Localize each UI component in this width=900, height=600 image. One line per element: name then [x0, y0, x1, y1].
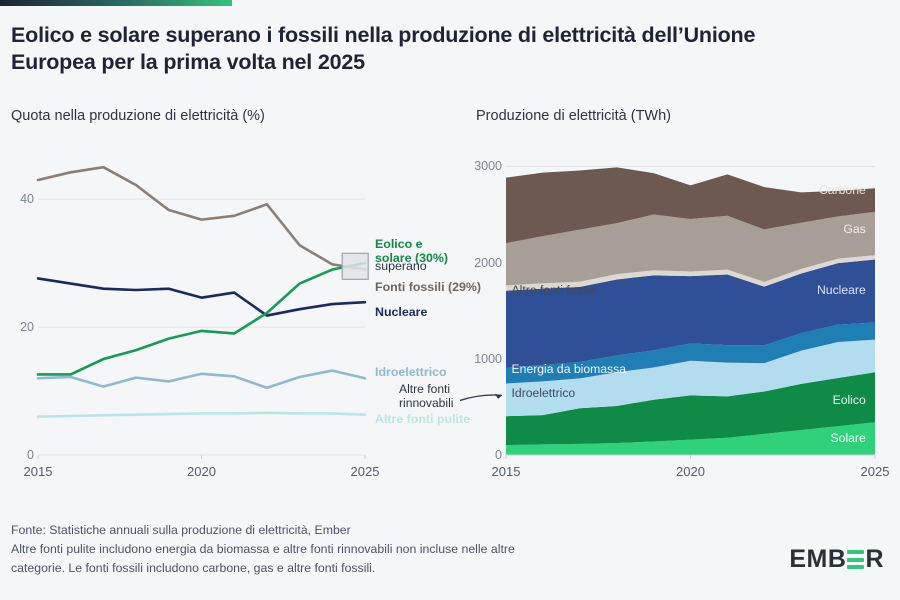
left-x-tick-2025: 2025 — [351, 464, 380, 479]
page-title: Eolico e solare superano i fossili nella… — [11, 22, 811, 76]
left-x-tick-2020: 2020 — [187, 464, 216, 479]
logo-e-icon — [847, 550, 864, 569]
right-y-tick-1000: 1000 — [464, 352, 502, 366]
annotation-arrowhead-icon — [495, 394, 502, 399]
logo-text-part2: R — [865, 545, 884, 574]
area-label-nucleare: Nucleare — [817, 283, 866, 298]
line-series-1 — [38, 278, 365, 315]
generation-area-chart: 0100020003000201520202025CarboneGasAltre… — [460, 140, 900, 490]
line-series-3 — [38, 371, 365, 388]
area-label-idroelettrico: Idroelettrico — [512, 386, 576, 401]
area-label-solare: Solare — [831, 431, 866, 446]
area-label-gas: Gas — [843, 222, 865, 237]
left-y-tick-0: 0 — [8, 448, 34, 462]
area-label-energia-biomassa: Energia da biomassa — [512, 362, 627, 377]
line-series-0 — [38, 167, 365, 269]
right-y-tick-0: 0 — [464, 448, 502, 462]
left-y-tick-40: 40 — [8, 192, 34, 206]
line-series-2 — [38, 263, 365, 374]
left-chart-title: Quota nella produzione di elettricità (%… — [11, 108, 265, 124]
right-chart-title: Produzione di elettricità (TWh) — [476, 108, 671, 124]
footer-note: Fonte: Statistiche annuali sulla produzi… — [11, 521, 711, 578]
annotation-arrow-icon — [460, 395, 502, 401]
right-x-tick-2025: 2025 — [861, 464, 890, 479]
accent-bar — [0, 0, 232, 6]
footer-note-line3: categorie. Le fonti fossili includono ca… — [11, 559, 711, 578]
footer-source: Fonte: Statistiche annuali sulla produzi… — [11, 521, 711, 540]
share-line-chart: 02040201520202025Eolico esolare (30%)sup… — [0, 140, 460, 490]
annot-nucleare: Nucleare — [375, 305, 427, 320]
right-x-tick-2020: 2020 — [676, 464, 705, 479]
left-x-tick-2015: 2015 — [24, 464, 53, 479]
crossover-highlight-box — [342, 253, 368, 279]
ember-logo: EMB R — [789, 545, 884, 574]
logo-text-part1: EMB — [789, 545, 846, 574]
annot-altre-fonti-rinnovabili: Altre fontirinnovabili — [399, 382, 453, 411]
right-x-tick-2015: 2015 — [492, 464, 521, 479]
area-label-altre-fonti-fossili: Altre fonti fossili — [512, 283, 597, 298]
annot-superano: superano — [375, 259, 427, 274]
line-series-4 — [38, 413, 365, 417]
area-label-carbone: Carbone — [819, 183, 866, 198]
footer-note-line2: Altre fonti pulite includono energia da … — [11, 540, 711, 559]
area-label-eolico: Eolico — [833, 393, 866, 408]
left-y-tick-20: 20 — [8, 320, 34, 334]
annot-altre-fonti-pulite: Altre fonti pulite — [375, 412, 470, 427]
right-y-tick-2000: 2000 — [464, 256, 502, 270]
annot-idroelettrico: Idroelettrico — [375, 365, 447, 380]
right-y-tick-3000: 3000 — [464, 159, 502, 173]
